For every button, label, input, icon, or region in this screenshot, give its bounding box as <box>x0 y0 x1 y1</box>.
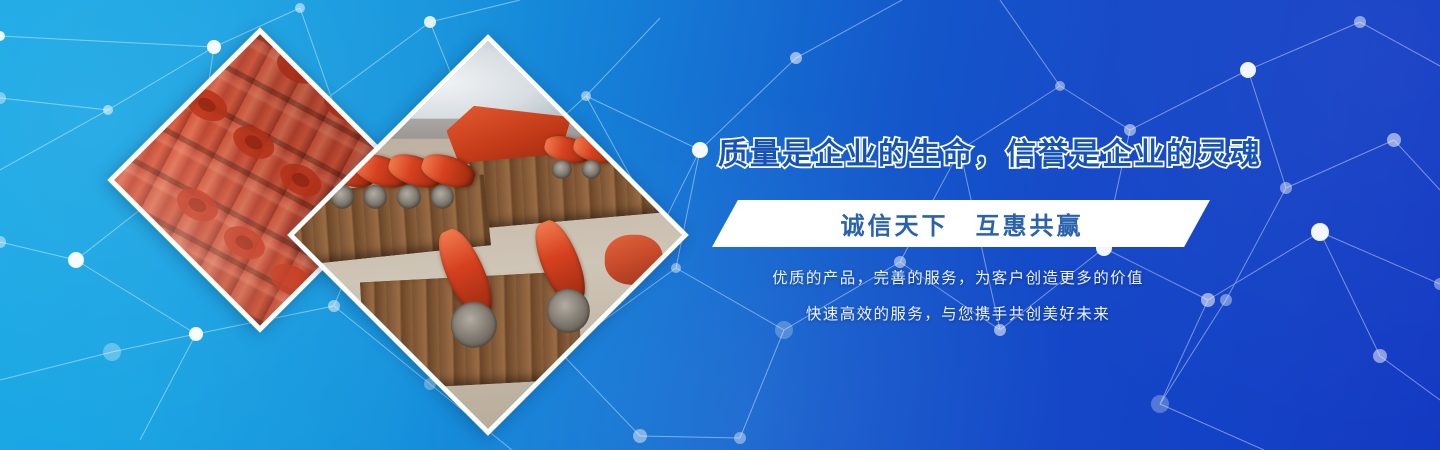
network-node <box>1387 133 1401 147</box>
network-node <box>994 324 1006 336</box>
network-node <box>633 429 647 443</box>
network-line <box>1394 140 1440 190</box>
network-line <box>1208 232 1320 300</box>
network-node <box>0 31 5 41</box>
slogan-ribbon: 诚信天下 互惠共赢 <box>712 200 1210 247</box>
network-line <box>586 96 700 150</box>
network-line <box>586 18 660 96</box>
network-line <box>1360 22 1440 66</box>
network-node <box>1354 16 1366 28</box>
network-node <box>790 52 802 64</box>
network-node <box>328 300 340 312</box>
network-line <box>0 36 214 47</box>
network-line <box>0 110 108 170</box>
network-node <box>103 343 121 361</box>
network-line <box>640 436 740 438</box>
banner-headline: 质量是企业的生命，信誉是企业的灵魂 <box>718 138 1248 173</box>
network-node <box>103 105 113 115</box>
network-line <box>430 0 520 22</box>
description-line-1: 优质的产品，完善的服务，为客户创造更多的价值 <box>708 266 1208 288</box>
network-line <box>1130 70 1248 130</box>
network-line <box>1248 22 1360 70</box>
network-line <box>740 330 784 438</box>
network-line <box>140 334 196 440</box>
network-line <box>560 352 640 436</box>
network-node <box>1151 395 1169 413</box>
network-node <box>1280 182 1292 194</box>
promotional-banner: 质量是企业的生命，信誉是企业的灵魂 诚信天下 互惠共赢 优质的产品，完善的服务，… <box>0 0 1440 450</box>
network-line <box>1160 404 1264 450</box>
network-line <box>0 242 76 260</box>
network-line <box>1320 232 1440 284</box>
network-node <box>1055 81 1065 91</box>
network-line <box>1060 86 1130 130</box>
network-node <box>671 263 681 273</box>
network-node <box>207 40 221 54</box>
network-node <box>0 236 6 248</box>
description-line-2: 快速高效的服务，与您携手共创美好未来 <box>708 302 1208 324</box>
network-line <box>1000 0 1060 86</box>
network-line <box>0 98 108 110</box>
network-node <box>0 92 6 104</box>
network-node <box>581 91 591 101</box>
network-line <box>676 150 700 268</box>
network-line <box>1320 232 1380 356</box>
network-line <box>1380 356 1440 400</box>
network-line <box>1226 188 1286 300</box>
network-node <box>1373 349 1387 363</box>
network-node <box>68 252 84 268</box>
network-node <box>1311 223 1329 241</box>
network-node <box>692 142 708 158</box>
network-node <box>1124 124 1136 136</box>
network-line <box>76 260 196 334</box>
network-line <box>700 58 796 150</box>
network-node <box>295 3 305 13</box>
network-line <box>0 352 112 380</box>
network-node <box>1240 62 1256 78</box>
network-node <box>734 432 746 444</box>
network-node <box>1434 278 1440 290</box>
network-node <box>1220 294 1232 306</box>
network-node <box>189 327 203 341</box>
slogan-text: 诚信天下 互惠共赢 <box>712 200 1210 247</box>
network-line <box>112 334 196 352</box>
network-line <box>796 0 902 58</box>
network-node <box>424 16 436 28</box>
network-line <box>1286 140 1394 188</box>
